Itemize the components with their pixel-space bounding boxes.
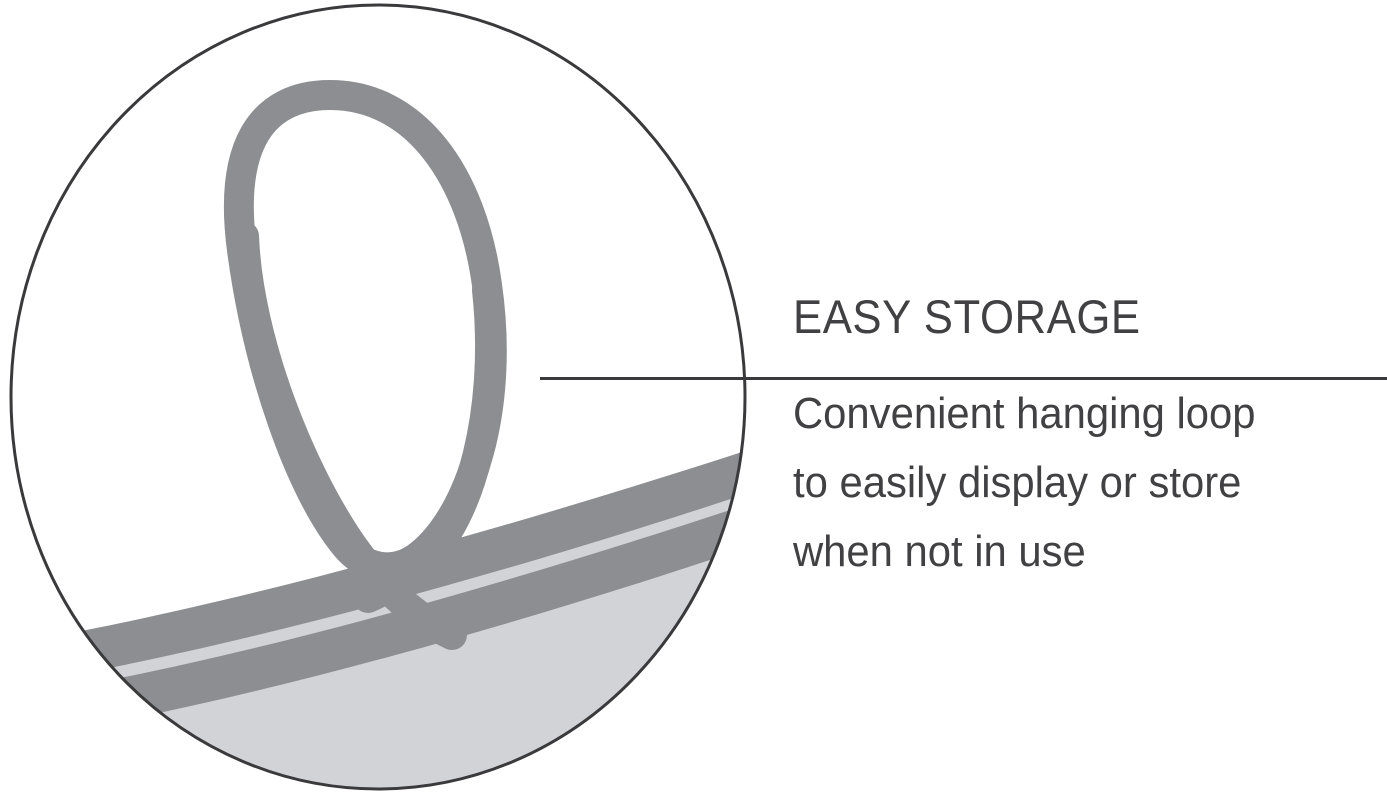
description-line: to easily display or store	[793, 448, 1357, 517]
description-line: when not in use	[793, 517, 1357, 586]
hanging-loop-illustration	[0, 0, 780, 805]
callout-text-block: EASY STORAGE Convenient hanging loop to …	[793, 291, 1387, 586]
feature-description: Convenient hanging loop to easily displa…	[793, 379, 1357, 586]
feature-title: EASY STORAGE	[793, 291, 1345, 343]
feature-callout: EASY STORAGE Convenient hanging loop to …	[0, 0, 1387, 805]
description-line: Convenient hanging loop	[793, 379, 1357, 448]
illustration-badge	[0, 0, 780, 805]
